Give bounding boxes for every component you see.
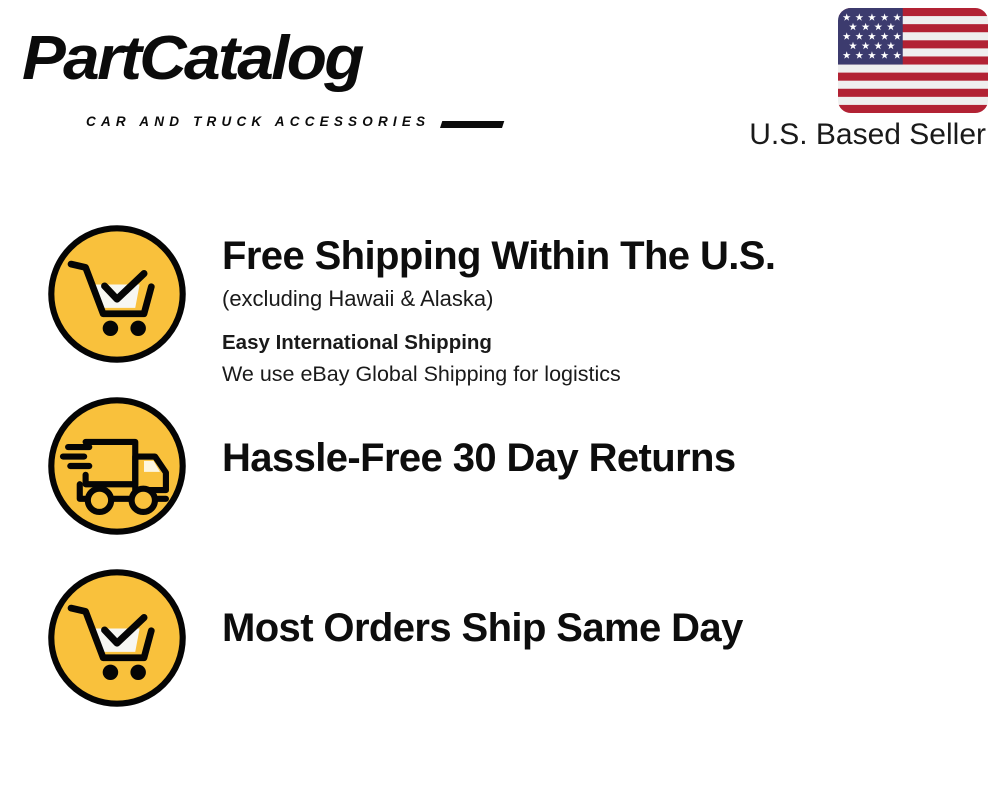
feature-row: Most Orders Ship Same Day (0, 562, 1000, 734)
feature-title: Hassle-Free 30 Day Returns (222, 434, 980, 482)
feature-secondary-title: Easy International Shipping (222, 328, 980, 358)
feature-title: Free Shipping Within The U.S. (222, 232, 980, 280)
feature-subtitle: (excluding Hawaii & Alaska) (222, 284, 980, 314)
brand-logo[interactable]: PartCatalog CAR AND TRUCK ACCESSORIES (22, 26, 492, 114)
feature-row: Hassle-Free 30 Day Returns (0, 390, 1000, 562)
shopping-cart-check-icon (44, 221, 190, 367)
shopping-cart-check-icon (44, 565, 190, 711)
feature-text-block: Free Shipping Within The U.S. (excluding… (222, 232, 980, 389)
feature-text-block: Hassle-Free 30 Day Returns (222, 434, 980, 482)
page-header: PartCatalog CAR AND TRUCK ACCESSORIES (0, 0, 1000, 170)
us-flag-icon (838, 8, 988, 113)
feature-text-block: Most Orders Ship Same Day (222, 604, 980, 652)
feature-row: Free Shipping Within The U.S. (excluding… (0, 218, 1000, 390)
delivery-truck-icon (44, 393, 190, 539)
brand-wordmark: PartCatalog (22, 22, 362, 96)
feature-list: Free Shipping Within The U.S. (excluding… (0, 218, 1000, 734)
us-based-seller-block: U.S. Based Seller (718, 8, 988, 153)
us-based-seller-label: U.S. Based Seller (718, 117, 988, 153)
feature-title: Most Orders Ship Same Day (222, 604, 980, 652)
brand-tagline: CAR AND TRUCK ACCESSORIES (86, 114, 430, 129)
brand-underline-accent (440, 121, 504, 128)
feature-secondary-subtitle: We use eBay Global Shipping for logistic… (222, 359, 980, 389)
